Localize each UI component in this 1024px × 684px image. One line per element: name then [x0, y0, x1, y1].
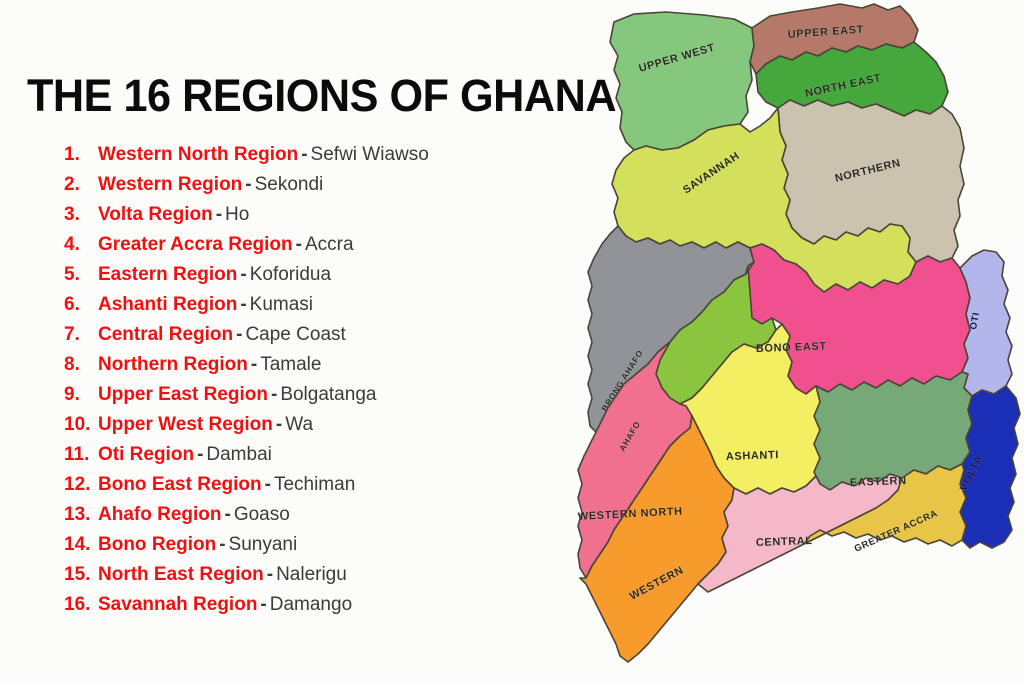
region-list-number: 6. [64, 290, 98, 320]
region-separator: - [237, 290, 249, 320]
region-name: Northern Region [98, 350, 248, 380]
region-separator: - [237, 260, 249, 290]
region-list-item: 4.Greater Accra Region-Accra [64, 230, 584, 260]
region-separator: - [213, 200, 225, 230]
region-list-item: 12.Bono East Region-Techiman [64, 470, 584, 500]
region-list-number: 4. [64, 230, 98, 260]
region-list-item: 8.Northern Region-Tamale [64, 350, 584, 380]
region-capital: Sunyani [229, 530, 298, 560]
region-list-item: 15.North East Region-Nalerigu [64, 560, 584, 590]
region-list-number: 2. [64, 170, 98, 200]
map-label-eastern: EASTERN [850, 475, 907, 489]
region-list-item: 1.Western North Region-Sefwi Wiawso [64, 140, 584, 170]
region-name: Bono Region [98, 530, 216, 560]
region-list-number: 14. [64, 530, 98, 560]
region-capital: Goaso [234, 500, 290, 530]
region-separator: - [268, 380, 280, 410]
region-separator: - [248, 350, 260, 380]
region-list-item: 6.Ashanti Region-Kumasi [64, 290, 584, 320]
ghana-regions-map: UPPER WEST UPPER EAST NORTH EAST NORTHER… [574, 0, 1024, 684]
region-separator: - [257, 590, 269, 620]
region-list-item: 7.Central Region-Cape Coast [64, 320, 584, 350]
region-separator: - [262, 470, 274, 500]
region-separator: - [242, 170, 254, 200]
region-separator: - [222, 500, 234, 530]
region-list-number: 8. [64, 350, 98, 380]
region-list-number: 13. [64, 500, 98, 530]
region-name: Eastern Region [98, 260, 237, 290]
page-title: THE 16 REGIONS OF GHANA [27, 70, 616, 122]
regions-list: 1.Western North Region-Sefwi Wiawso2.Wes… [64, 140, 584, 620]
region-separator: - [233, 320, 245, 350]
ghana-map-container: UPPER WEST UPPER EAST NORTH EAST NORTHER… [574, 0, 1024, 684]
region-capital: Wa [285, 410, 313, 440]
region-capital: Tamale [260, 350, 321, 380]
region-capital: Techiman [274, 470, 355, 500]
region-list-number: 16. [64, 590, 98, 620]
region-name: Upper West Region [98, 410, 273, 440]
region-capital: Sekondi [255, 170, 324, 200]
region-list-item: 14.Bono Region-Sunyani [64, 530, 584, 560]
region-name: North East Region [98, 560, 264, 590]
region-capital: Accra [305, 230, 354, 260]
page-root: THE 16 REGIONS OF GHANA 1.Western North … [0, 0, 1024, 684]
region-name: Oti Region [98, 440, 194, 470]
region-name: Savannah Region [98, 590, 257, 620]
region-separator: - [298, 140, 310, 170]
region-separator: - [194, 440, 206, 470]
region-name: Ashanti Region [98, 290, 237, 320]
region-separator: - [216, 530, 228, 560]
region-name: Volta Region [98, 200, 213, 230]
map-label-central: CENTRAL [756, 535, 813, 549]
region-name: Bono East Region [98, 470, 262, 500]
region-list-number: 5. [64, 260, 98, 290]
region-capital: Nalerigu [276, 560, 347, 590]
region-list-number: 11. [64, 440, 98, 470]
region-capital: Cape Coast [245, 320, 345, 350]
region-capital: Kumasi [250, 290, 313, 320]
region-separator: - [273, 410, 285, 440]
region-list-number: 3. [64, 200, 98, 230]
map-label-ashanti: ASHANTI [726, 449, 779, 463]
map-label-bono-east: BONO EAST [756, 341, 827, 355]
region-name: Western Region [98, 170, 242, 200]
region-list-number: 7. [64, 320, 98, 350]
region-list-number: 9. [64, 380, 98, 410]
region-list-number: 10. [64, 410, 98, 440]
region-list-number: 12. [64, 470, 98, 500]
region-separator: - [264, 560, 276, 590]
region-capital: Dambai [206, 440, 271, 470]
region-list-item: 10.Upper West Region-Wa [64, 410, 584, 440]
region-list-item: 16.Savannah Region-Damango [64, 590, 584, 620]
region-capital: Ho [225, 200, 249, 230]
region-list-item: 9.Upper East Region-Bolgatanga [64, 380, 584, 410]
region-list-item: 2.Western Region-Sekondi [64, 170, 584, 200]
region-name: Ahafo Region [98, 500, 222, 530]
region-name: Upper East Region [98, 380, 268, 410]
region-capital: Sefwi Wiawso [311, 140, 429, 170]
region-list-item: 5.Eastern Region-Koforidua [64, 260, 584, 290]
region-list-item: 13.Ahafo Region-Goaso [64, 500, 584, 530]
region-list-number: 1. [64, 140, 98, 170]
region-list-number: 15. [64, 560, 98, 590]
region-capital: Damango [270, 590, 352, 620]
region-name: Central Region [98, 320, 233, 350]
region-capital: Bolgatanga [280, 380, 376, 410]
region-list-item: 11.Oti Region-Dambai [64, 440, 584, 470]
region-capital: Koforidua [250, 260, 331, 290]
region-name: Western North Region [98, 140, 298, 170]
region-separator: - [293, 230, 305, 260]
region-list-item: 3.Volta Region-Ho [64, 200, 584, 230]
region-name: Greater Accra Region [98, 230, 293, 260]
